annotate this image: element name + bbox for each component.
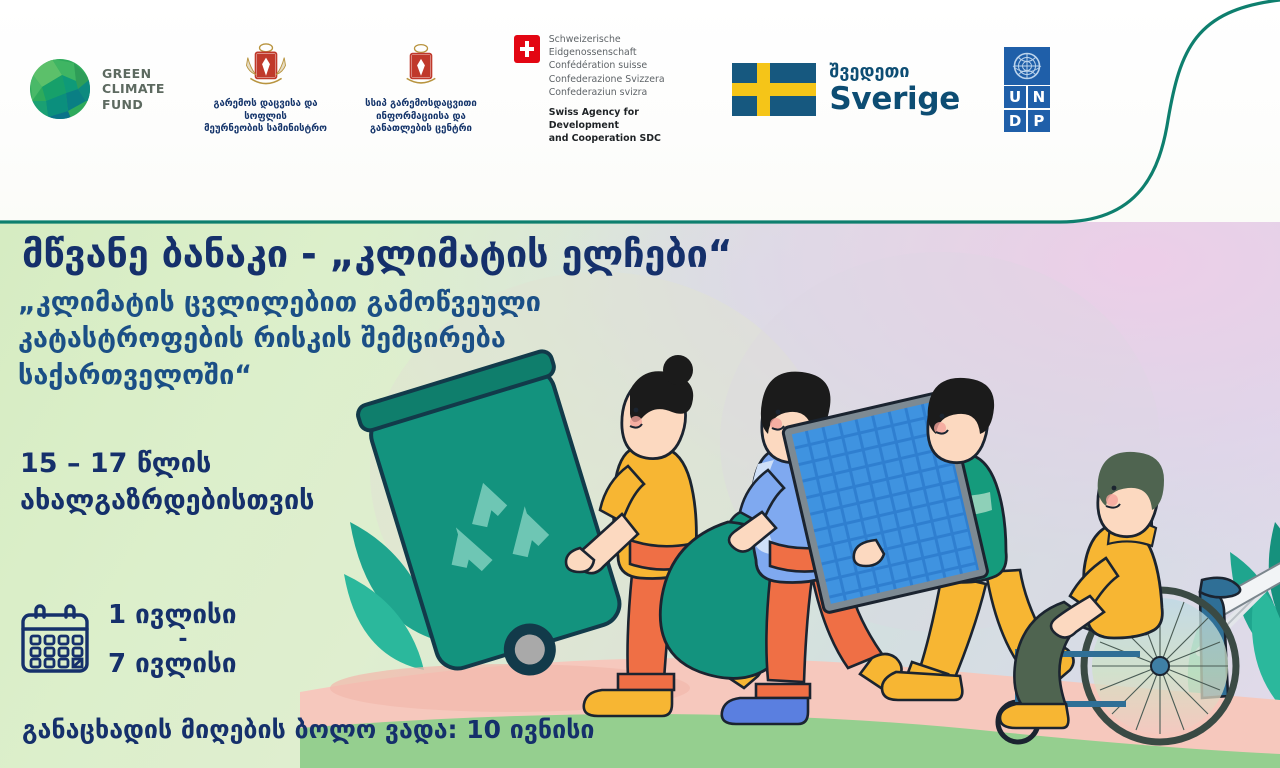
undp-letter-p: P xyxy=(1028,110,1050,132)
ministry-caption: გარემოს დაცვისა და სოფლის მეურნეობის სამ… xyxy=(199,98,332,135)
sdc-text: Schweizerische Eidgenossenschaft Confédé… xyxy=(549,33,691,146)
polygon-globe-icon xyxy=(28,57,92,121)
sdc-lang-fr: Confédération suisse xyxy=(549,59,691,72)
poster-text-block: მწვანე ბანაკი - „კლიმატის ელჩები“ „კლიმა… xyxy=(0,222,700,768)
eic-caption: სსიპ გარემოსდაცვითი ინფორმაციისა და განა… xyxy=(365,98,477,135)
undp-letters: U N D P xyxy=(1004,86,1050,132)
subtitle-line-1: „კლიმატის ცვლილებით გამოწვეული xyxy=(18,285,678,321)
application-deadline: განაცხადის მიღების ბოლო ვადა: 10 ივნისი xyxy=(22,716,595,744)
camp-end-date: 7 ივლისი xyxy=(108,651,258,678)
age-range-text: 15 – 17 წლის ახალგაზრდებისთვის xyxy=(20,445,640,520)
sweden-label-ka: შვედეთი xyxy=(829,63,960,81)
camp-date-separator: - xyxy=(108,629,258,651)
eic-caption-line-2: ინფორმაციისა და xyxy=(365,111,477,123)
eic-caption-line-3: განათლების ცენტრი xyxy=(365,123,477,135)
un-emblem-icon xyxy=(1004,47,1050,85)
undp-letter-u: U xyxy=(1004,86,1026,108)
sdc-en-line-1: Swiss Agency for Development xyxy=(549,107,691,132)
undp-letter-n: N xyxy=(1028,86,1050,108)
sweden-flag-icon xyxy=(732,63,816,116)
logo-environmental-info-centre: სსიპ გარემოსდაცვითი ინფორმაციისა და განა… xyxy=(354,42,487,135)
page-title: მწვანე ბანაკი - „კლიმატის ელჩები“ xyxy=(22,234,922,275)
camp-dates-text: 1 ივლისი - 7 ივლისი xyxy=(108,602,258,677)
age-range-line-2: ახალგაზრდებისთვის xyxy=(20,482,640,519)
camp-start-date: 1 ივლისი xyxy=(108,602,258,629)
georgia-coat-of-arms-icon xyxy=(395,42,447,94)
sdc-lang-de: Schweizerische Eidgenossenschaft xyxy=(549,33,691,60)
sweden-label-en: Sverige xyxy=(829,83,960,116)
poster-main: მწვანე ბანაკი - „კლიმატის ელჩები“ „კლიმა… xyxy=(0,222,1280,768)
gcf-line-1: GREEN xyxy=(102,66,165,82)
subtitle-line-2: კატასტროფების რისკის შემცირება xyxy=(18,321,678,357)
calendar-icon xyxy=(18,603,92,677)
undp-letter-d: D xyxy=(1004,110,1026,132)
poster-root: GREEN CLIMATE FUND გარემოს დაცვისა xyxy=(0,0,1280,768)
logo-undp: U N D P xyxy=(1004,47,1050,132)
georgia-coat-of-arms-icon xyxy=(240,42,292,94)
camp-dates-block: 1 ივლისი - 7 ივლისი xyxy=(18,602,258,677)
gcf-line-3: FUND xyxy=(102,97,165,113)
logo-header: GREEN CLIMATE FUND გარემოს დაცვისა xyxy=(0,0,1280,222)
sweden-wordmark: შვედეთი Sverige xyxy=(829,63,960,116)
logo-swiss-sdc: Schweizerische Eidgenossenschaft Confédé… xyxy=(514,33,691,146)
logo-green-climate-fund: GREEN CLIMATE FUND xyxy=(28,57,165,121)
logo-row: GREEN CLIMATE FUND გარემოს დაცვისა xyxy=(0,34,1050,144)
project-subtitle: „კლიმატის ცვლილებით გამოწვეული კატასტროფ… xyxy=(18,285,678,394)
ministry-caption-line-1: გარემოს დაცვისა და სოფლის xyxy=(199,98,332,123)
sdc-lang-it: Confederazione Svizzera xyxy=(549,73,691,86)
age-range-line-1: 15 – 17 წლის xyxy=(20,445,640,482)
swiss-cross-flag-icon xyxy=(514,35,540,63)
sdc-en-block: Swiss Agency for Development and Coopera… xyxy=(549,107,691,145)
ministry-caption-line-2: მეურნეობის სამინისტრო xyxy=(199,123,332,135)
logo-sweden: შვედეთი Sverige xyxy=(732,63,960,116)
sdc-lang-rm: Confederaziun svizra xyxy=(549,86,691,99)
gcf-wordmark: GREEN CLIMATE FUND xyxy=(102,66,165,113)
eic-caption-line-1: სსიპ გარემოსდაცვითი xyxy=(365,98,477,110)
sdc-en-line-2: and Cooperation SDC xyxy=(549,133,691,146)
logo-ministry-environment: გარემოს დაცვისა და სოფლის მეურნეობის სამ… xyxy=(199,42,332,135)
gcf-line-2: CLIMATE xyxy=(102,81,165,97)
subtitle-line-3: საქართველოში“ xyxy=(18,358,678,394)
